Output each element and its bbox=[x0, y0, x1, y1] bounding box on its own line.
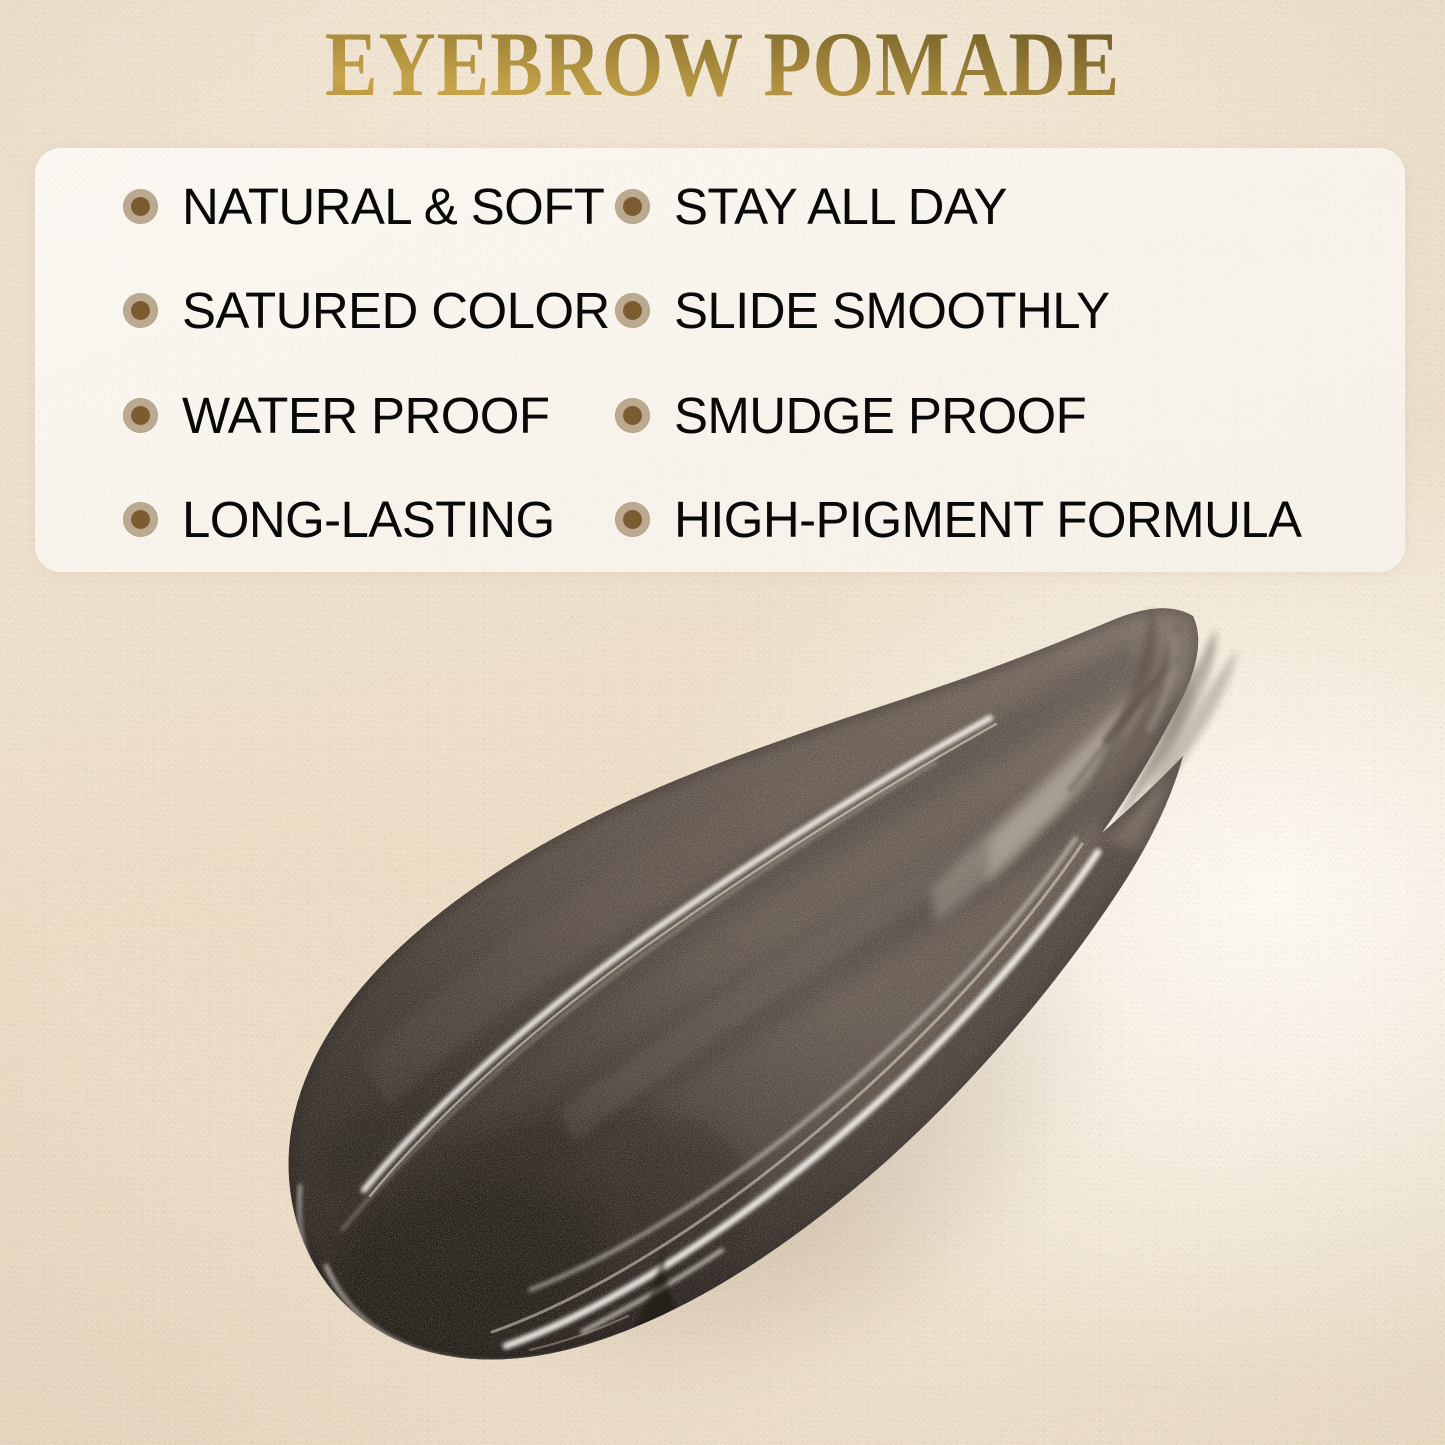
bullet-circle-icon bbox=[615, 502, 650, 537]
feature-label: WATER PROOF bbox=[182, 390, 549, 441]
feature-label: SATURED COLOR bbox=[182, 285, 610, 336]
eyebrow-pomade-smear bbox=[230, 590, 1320, 1435]
product-swatch-area bbox=[230, 590, 1320, 1435]
feature-label: SLIDE SMOOTHLY bbox=[674, 285, 1110, 336]
feature-label: NATURAL & SOFT bbox=[182, 181, 604, 232]
feature-item-water-proof: WATER PROOF bbox=[35, 363, 615, 468]
feature-label: HIGH-PIGMENT FORMULA bbox=[674, 494, 1301, 545]
feature-item-natural-soft: NATURAL & SOFT bbox=[35, 154, 615, 259]
feature-label: LONG-LASTING bbox=[182, 494, 555, 545]
page-title: EYEBROW POMADE bbox=[101, 18, 1344, 110]
feature-list-card: NATURAL & SOFT STAY ALL DAY SATURED COLO… bbox=[35, 148, 1405, 572]
feature-item-high-pigment-formula: HIGH-PIGMENT FORMULA bbox=[615, 468, 1405, 573]
bullet-circle-icon bbox=[615, 398, 650, 433]
product-feature-poster: EYEBROW POMADE NATURAL & SOFT STAY ALL D… bbox=[0, 0, 1445, 1445]
feature-item-satured-color: SATURED COLOR bbox=[35, 259, 615, 364]
bullet-circle-icon bbox=[123, 189, 158, 224]
feature-list: NATURAL & SOFT STAY ALL DAY SATURED COLO… bbox=[35, 148, 1405, 572]
bullet-circle-icon bbox=[123, 293, 158, 328]
feature-label: SMUDGE PROOF bbox=[674, 390, 1086, 441]
feature-item-stay-all-day: STAY ALL DAY bbox=[615, 154, 1405, 259]
feature-item-smudge-proof: SMUDGE PROOF bbox=[615, 363, 1405, 468]
feature-item-slide-smoothly: SLIDE SMOOTHLY bbox=[615, 259, 1405, 364]
bullet-circle-icon bbox=[615, 293, 650, 328]
bullet-circle-icon bbox=[123, 502, 158, 537]
feature-label: STAY ALL DAY bbox=[674, 181, 1007, 232]
feature-item-long-lasting: LONG-LASTING bbox=[35, 468, 615, 573]
bullet-circle-icon bbox=[123, 398, 158, 433]
bullet-circle-icon bbox=[615, 189, 650, 224]
